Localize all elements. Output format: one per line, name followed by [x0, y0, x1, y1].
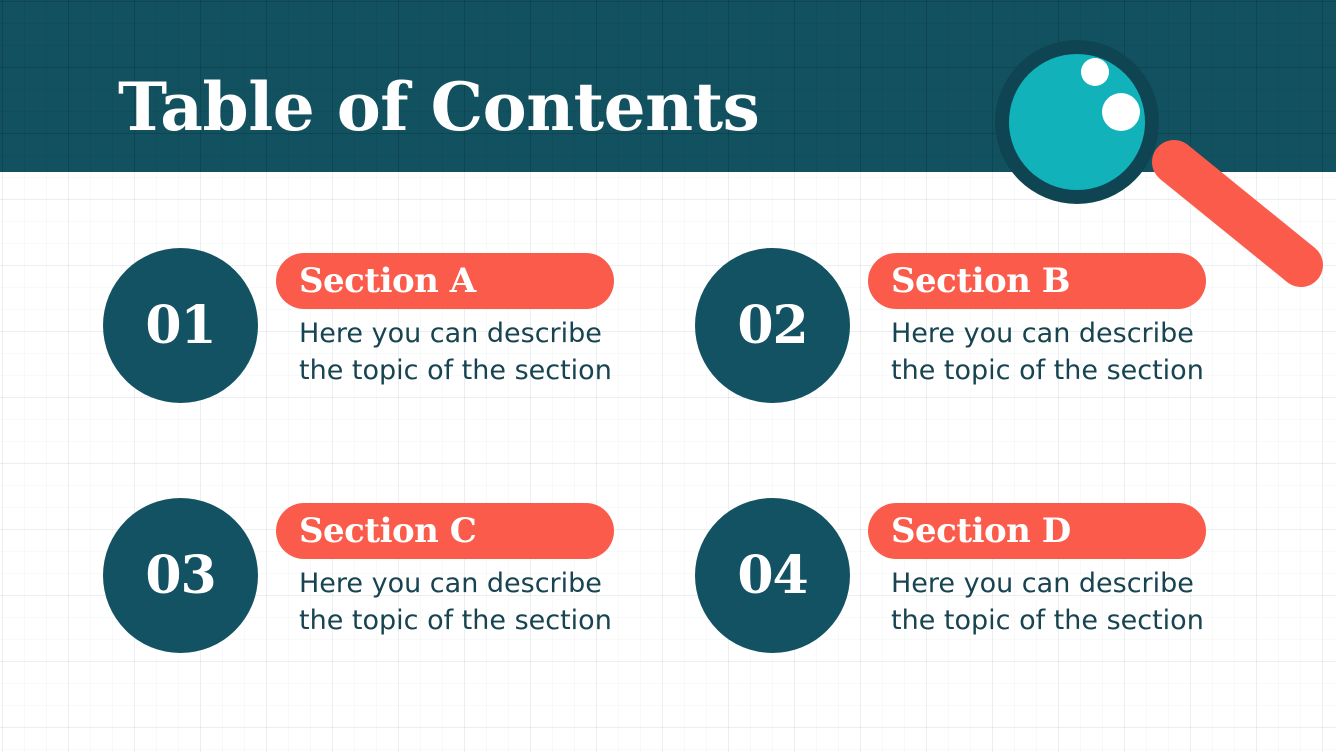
number-badge-01: 01 [103, 248, 258, 403]
toc-item-03[interactable]: 03 Section C Here you can describe the t… [103, 503, 623, 703]
section-description: Here you can describe the topic of the s… [299, 565, 629, 639]
section-title-pill[interactable]: Section D [868, 503, 1206, 559]
number-badge-02: 02 [695, 248, 850, 403]
number-label: 04 [737, 550, 807, 602]
section-title-pill[interactable]: Section A [276, 253, 614, 309]
number-label: 03 [145, 550, 215, 602]
section-title-label: Section B [891, 263, 1070, 299]
section-title-label: Section D [891, 513, 1071, 549]
toc-text-block: Section C Here you can describe the topi… [276, 503, 616, 639]
section-title-label: Section A [299, 263, 476, 299]
toc-text-block: Section A Here you can describe the topi… [276, 253, 616, 389]
page-title: Table of Contents [118, 68, 759, 146]
section-description: Here you can describe the topic of the s… [299, 315, 629, 389]
number-badge-04: 04 [695, 498, 850, 653]
section-description: Here you can describe the topic of the s… [891, 565, 1221, 639]
section-title-pill[interactable]: Section C [276, 503, 614, 559]
table-of-contents-grid: 01 Section A Here you can describe the t… [0, 172, 1336, 752]
toc-item-02[interactable]: 02 Section B Here you can describe the t… [695, 253, 1215, 453]
toc-text-block: Section D Here you can describe the topi… [868, 503, 1208, 639]
section-description: Here you can describe the topic of the s… [891, 315, 1221, 389]
slide-canvas: Table of Contents 01 Section A Here you [0, 0, 1336, 752]
toc-item-01[interactable]: 01 Section A Here you can describe the t… [103, 253, 623, 453]
section-title-label: Section C [299, 513, 476, 549]
toc-text-block: Section B Here you can describe the topi… [868, 253, 1208, 389]
number-badge-03: 03 [103, 498, 258, 653]
number-label: 02 [737, 300, 807, 352]
section-title-pill[interactable]: Section B [868, 253, 1206, 309]
number-label: 01 [145, 300, 215, 352]
toc-item-04[interactable]: 04 Section D Here you can describe the t… [695, 503, 1215, 703]
